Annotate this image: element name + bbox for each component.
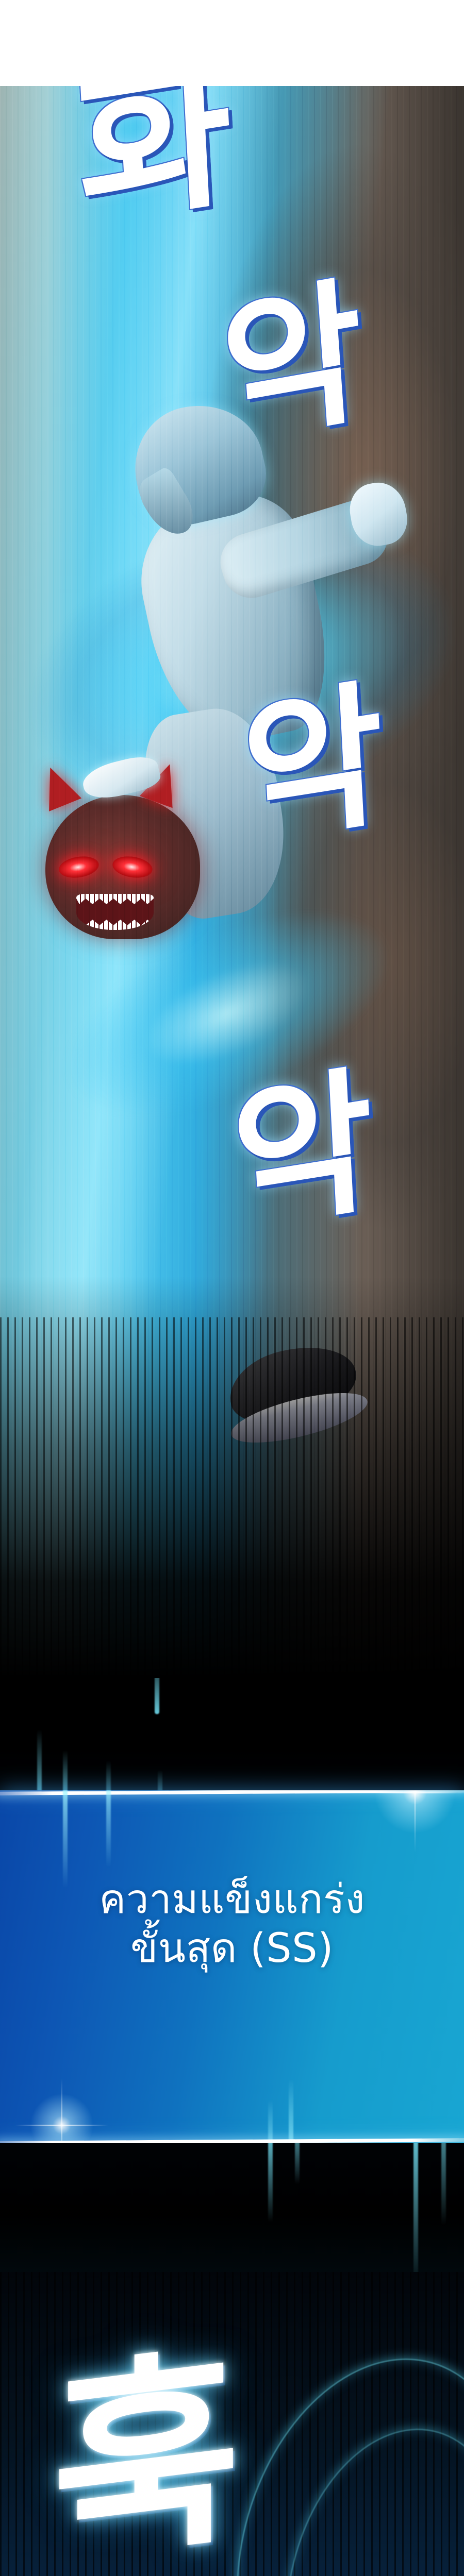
status-line-2: ขั้นสุด (SS): [0, 1924, 464, 1973]
status-banner-text: ความแข็งแกร่ง ขั้นสุด (SS): [0, 1875, 464, 1973]
bottom-fade-to-black: [0, 1276, 464, 1678]
panel-action-impact: 화 악 악 악: [0, 86, 464, 1678]
light-tick: [413, 2143, 418, 2272]
light-tick: [63, 1790, 68, 1888]
lens-flare-sparkle: [356, 1790, 464, 1852]
lens-flare-sparkle: [15, 2079, 108, 2143]
light-tick: [289, 2079, 293, 2143]
sfx-ak-3: 악: [229, 1069, 377, 1234]
status-line-1: ความแข็งแกร่ง: [0, 1875, 464, 1924]
light-tick: [37, 1730, 42, 1790]
light-tick: [268, 2143, 273, 2223]
black-gap-upper: [0, 1678, 464, 1790]
black-gap-lower: [0, 2143, 464, 2272]
light-tick: [106, 1760, 111, 1790]
light-tick: [63, 1750, 68, 1790]
light-tick: [106, 1790, 111, 1868]
light-tick: [441, 2143, 446, 2226]
light-tick: [268, 2099, 273, 2143]
light-tick: [158, 1770, 162, 1790]
light-tick: [155, 1678, 159, 1714]
webtoon-page: 화 악 악 악 ความแข็งแกร่ง ขั้นสุด (SS): [0, 0, 464, 2576]
panel-power-charge: 훅 웅: [0, 2272, 464, 2576]
status-callout-banner: ความแข็งแกร่ง ขั้นสุด (SS): [0, 1790, 464, 2143]
light-tick: [295, 2143, 300, 2184]
sfx-ak-1: 악: [218, 280, 368, 447]
sfx-huk: 훅: [52, 2352, 240, 2567]
sfx-ak-2: 악: [239, 683, 387, 848]
sfx-hwa: 화: [73, 86, 236, 230]
